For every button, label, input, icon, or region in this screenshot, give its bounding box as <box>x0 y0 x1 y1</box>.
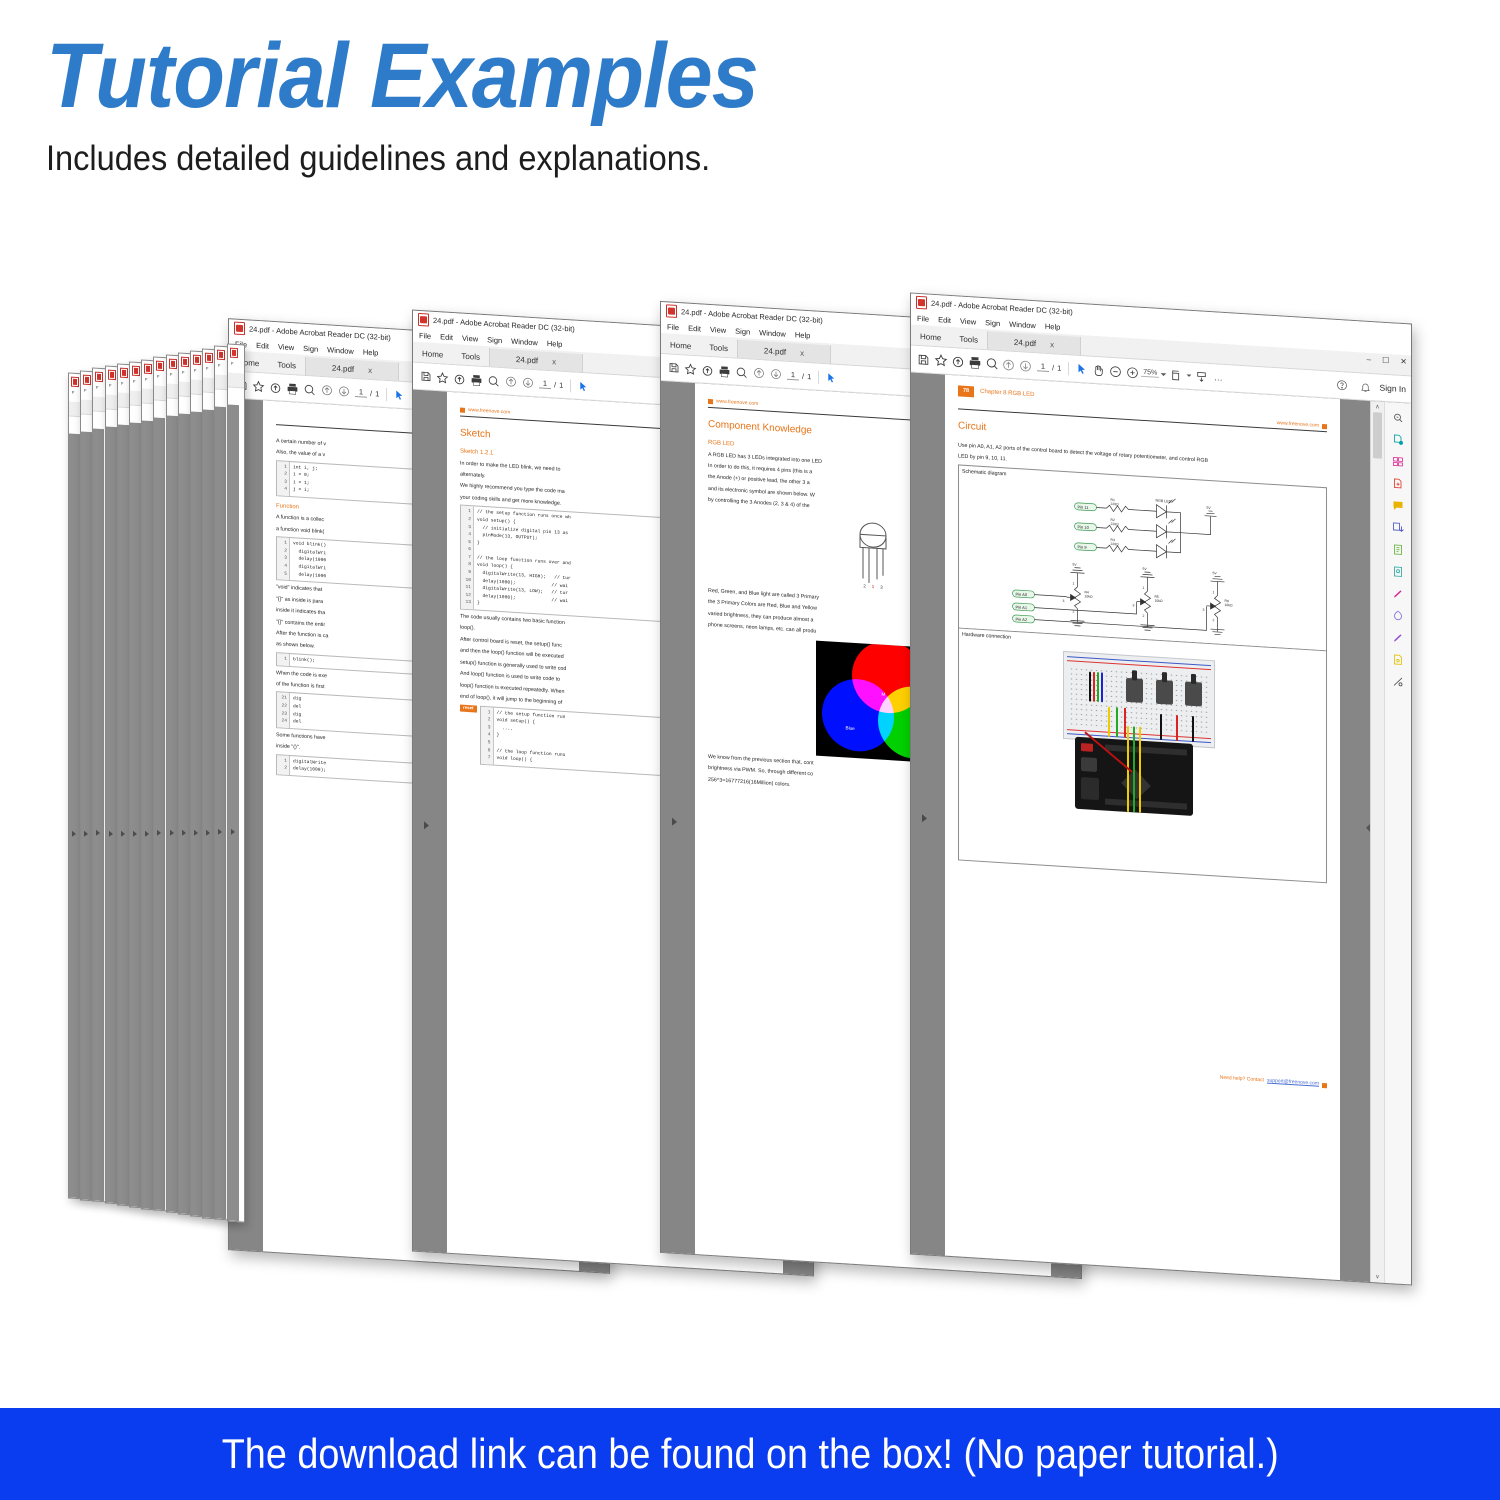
color-label-magenta: M <box>882 690 886 697</box>
code-line-numbers: 21222324 <box>277 693 290 728</box>
menu-help[interactable]: Help <box>363 347 378 357</box>
code-line-numbers: 1234567 <box>481 706 494 764</box>
window-controls[interactable]: – ☐ ✕ <box>1367 355 1407 367</box>
chevron-down-icon[interactable] <box>1159 365 1168 383</box>
tab-tools[interactable]: Tools <box>268 355 305 375</box>
page-separator: / <box>1052 363 1054 372</box>
left-gutter <box>118 425 129 1206</box>
acrobat-window-circuit[interactable]: 24.pdf - Adobe Acrobat Reader DC (32-bit… <box>910 292 1412 1285</box>
next-page-icon[interactable] <box>519 374 536 392</box>
page-current[interactable]: 1 <box>787 370 799 381</box>
document-area <box>228 405 244 1222</box>
pdf-app-icon <box>156 361 164 371</box>
svg-text:Pin A1: Pin A1 <box>1016 604 1028 610</box>
print-icon[interactable] <box>966 353 983 371</box>
next-page-icon[interactable] <box>335 382 352 400</box>
page-subtitle: Includes detailed guidelines and explana… <box>46 139 976 179</box>
expand-navigation-icon[interactable] <box>84 831 88 837</box>
chevron-down-icon[interactable] <box>1185 367 1193 384</box>
fit-page-icon[interactable] <box>1168 366 1185 384</box>
collapsed-window[interactable]: F <box>227 344 245 1223</box>
left-gutter <box>911 373 945 1256</box>
menu-window[interactable]: Window <box>327 345 354 356</box>
hardware-section: Hardware connection <box>959 627 1326 882</box>
left-gutter <box>228 405 239 1222</box>
left-gutter <box>154 418 165 1211</box>
save-icon[interactable] <box>915 350 932 368</box>
left-gutter <box>93 429 104 1202</box>
page-total: 1 <box>559 380 563 389</box>
support-email-link[interactable]: support@freenove.com <box>1267 1078 1319 1089</box>
menu-view[interactable]: View <box>462 333 478 343</box>
svg-text:5V: 5V <box>1073 562 1078 566</box>
tab-home[interactable]: Home <box>911 327 950 347</box>
code-source: dig del dig del <box>290 693 304 728</box>
figure-frame: Schematic diagram Pin 11 <box>958 464 1327 883</box>
expand-navigation-icon[interactable] <box>182 830 186 836</box>
menu-window[interactable]: Window <box>1009 319 1036 330</box>
svg-text:3: 3 <box>1203 607 1205 611</box>
upload-cloud-icon[interactable] <box>699 361 716 379</box>
footer-text: Need help? Contact <box>1220 1075 1264 1085</box>
page-header: Tutorial Examples Includes detailed guid… <box>46 28 1046 179</box>
page-indicator[interactable]: 1 / 1 <box>355 387 379 399</box>
orange-square-icon <box>460 408 465 413</box>
svg-text:2: 2 <box>1213 618 1215 622</box>
search-icon[interactable] <box>983 354 1000 372</box>
menu-edit[interactable]: Edit <box>440 332 453 342</box>
pdf-app-icon <box>144 363 152 373</box>
page-current[interactable]: 1 <box>1037 361 1049 372</box>
expand-navigation-icon[interactable] <box>157 830 161 836</box>
code-source: digitalWrite delay(1000); <box>290 756 329 778</box>
toolbar-divider <box>1068 362 1069 375</box>
measure-icon[interactable] <box>1391 673 1406 689</box>
combine-files-icon[interactable] <box>1391 519 1406 535</box>
page-footer: Need help? Contact support@freenove.com <box>958 1059 1327 1090</box>
svg-text:10kΩ: 10kΩ <box>1155 598 1163 603</box>
upload-cloud-icon[interactable] <box>949 352 966 370</box>
pin-label: 3 <box>880 585 882 592</box>
star-icon[interactable] <box>434 368 451 386</box>
star-icon[interactable] <box>682 360 699 378</box>
tab-strip <box>228 373 244 389</box>
menu-view[interactable]: View <box>278 342 294 352</box>
page-total: 1 <box>807 372 811 381</box>
left-gutter <box>191 411 202 1216</box>
orange-square-icon <box>708 399 713 404</box>
pdf-app-icon <box>193 354 201 364</box>
comment-icon[interactable] <box>1391 497 1406 513</box>
star-icon[interactable] <box>250 377 267 395</box>
create-pdf-icon[interactable] <box>1391 475 1406 491</box>
scroll-mode-icon[interactable] <box>1193 368 1210 386</box>
left-gutter <box>179 414 190 1215</box>
close-tab-icon[interactable]: x <box>800 348 804 357</box>
expand-navigation-icon[interactable] <box>96 831 100 837</box>
pdf-app-icon <box>230 348 238 358</box>
svg-text:1: 1 <box>1143 586 1145 590</box>
menu-window[interactable]: Window <box>759 328 786 339</box>
toolbar-divider <box>818 370 819 383</box>
zoom-out-icon[interactable] <box>1107 362 1124 380</box>
svg-text:5V: 5V <box>1207 506 1212 510</box>
code-source: // the setup function runs once wh void … <box>474 507 574 616</box>
svg-text:3: 3 <box>1063 599 1065 603</box>
page-title: Tutorial Examples <box>46 28 966 125</box>
expand-navigation-icon[interactable] <box>231 829 235 835</box>
print-icon[interactable] <box>284 379 301 397</box>
svg-text:220Ω: 220Ω <box>1111 542 1120 547</box>
tab-home[interactable]: Home <box>413 344 452 364</box>
certificates-icon[interactable] <box>1391 651 1406 667</box>
pdf-app-icon <box>120 368 128 378</box>
color-label-blue: Blue <box>846 724 855 732</box>
pdf-app-icon <box>418 313 429 327</box>
expand-navigation-icon[interactable] <box>170 830 174 836</box>
pdf-app-icon <box>217 350 225 360</box>
pdf-app-icon <box>95 372 103 382</box>
tab-document-label: 24.pdf <box>1014 337 1036 347</box>
left-gutter <box>69 433 80 1198</box>
svg-text:5V: 5V <box>1143 567 1148 571</box>
expand-navigation-icon[interactable] <box>72 831 76 837</box>
save-icon[interactable] <box>665 359 682 377</box>
left-gutter <box>130 422 141 1207</box>
expand-navigation-icon[interactable] <box>145 830 149 836</box>
menu-edit[interactable]: Edit <box>688 323 701 333</box>
search-icon[interactable] <box>301 380 318 398</box>
tab-document-label: 24.pdf <box>516 354 538 364</box>
save-icon[interactable] <box>417 367 434 385</box>
pdf-app-icon <box>83 374 91 384</box>
svg-text:Pin 11: Pin 11 <box>1078 504 1090 510</box>
pdf-app-icon <box>181 357 189 367</box>
reset-badge: reset <box>460 704 477 712</box>
svg-text:Pin A2: Pin A2 <box>1016 616 1028 622</box>
expand-navigation-icon[interactable] <box>424 821 429 829</box>
left-gutter <box>142 420 153 1209</box>
left-gutter <box>81 431 92 1200</box>
expand-navigation-icon[interactable] <box>121 830 125 836</box>
pdf-app-icon <box>132 365 140 375</box>
print-icon[interactable] <box>716 362 733 380</box>
select-cursor-icon[interactable] <box>575 377 592 395</box>
fill-sign-icon[interactable] <box>1391 585 1406 601</box>
expand-navigation-icon[interactable] <box>206 829 210 835</box>
page-indicator[interactable]: 1 / 1 <box>539 378 563 390</box>
pdf-app-icon <box>666 304 677 318</box>
page-separator: / <box>554 380 556 389</box>
scroll-down-arrow[interactable]: ∨ <box>1375 1273 1379 1280</box>
menu-edit[interactable]: Edit <box>256 340 269 350</box>
page-separator: / <box>370 388 372 397</box>
menu-edit[interactable]: Edit <box>938 315 951 325</box>
tab-tools[interactable]: Tools <box>452 346 489 366</box>
minimize-icon[interactable]: – <box>1367 355 1371 364</box>
previous-page-icon[interactable] <box>318 381 335 399</box>
expand-navigation-icon[interactable] <box>109 830 113 836</box>
page-total: 1 <box>375 389 379 398</box>
expand-navigation-icon[interactable] <box>194 830 198 836</box>
page-current[interactable]: 1 <box>355 387 367 398</box>
banner-text: The download link can be found on the bo… <box>222 1430 1279 1478</box>
page-separator: / <box>802 371 804 380</box>
menu-sign[interactable]: Sign <box>985 318 1000 328</box>
protect-icon[interactable] <box>1391 563 1406 579</box>
help-circle-icon[interactable] <box>1334 376 1351 394</box>
organize-pages-icon[interactable] <box>1391 453 1406 469</box>
pdf-app-icon <box>71 376 79 386</box>
more-tools-icon[interactable]: … <box>1210 369 1227 387</box>
left-gutter <box>215 407 226 1220</box>
chapter-label: Chapter 8 RGB LED <box>980 387 1034 400</box>
hand-icon[interactable] <box>1090 361 1107 379</box>
schematic-diagram: Pin 11 R1 220Ω <box>959 477 1326 650</box>
potentiometer <box>1126 678 1143 703</box>
next-page-icon[interactable] <box>1017 357 1034 375</box>
stamp-icon[interactable] <box>1391 607 1406 623</box>
select-cursor-icon[interactable] <box>823 369 840 387</box>
svg-text:1: 1 <box>1073 581 1075 585</box>
previous-page-icon[interactable] <box>1000 356 1017 374</box>
svg-text:1: 1 <box>1213 590 1215 594</box>
tools-rail[interactable] <box>1384 402 1411 1285</box>
page-current[interactable]: 1 <box>539 378 551 389</box>
pdf-page: 78 Chapter 8 RGB LED www.freenove.com Ci… <box>945 375 1340 1280</box>
menu-file[interactable]: File <box>419 330 431 340</box>
menu-help[interactable]: Help <box>1045 321 1060 331</box>
tab-tools[interactable]: Tools <box>700 337 737 357</box>
svg-text:220Ω: 220Ω <box>1111 502 1120 507</box>
svg-text:3: 3 <box>1133 603 1135 607</box>
code-line-numbers: 12 <box>277 755 290 775</box>
code-line-numbers: 12345678910111213 <box>461 506 474 609</box>
right-gutter <box>1340 399 1370 1282</box>
search-document-icon[interactable] <box>1391 409 1406 425</box>
tab-document-label: 24.pdf <box>332 363 354 373</box>
toolbar-divider <box>570 379 571 392</box>
pdf-app-icon <box>234 322 245 336</box>
menu-sign[interactable]: Sign <box>303 343 318 353</box>
bell-icon[interactable] <box>1357 378 1374 396</box>
sign-in-button[interactable]: Sign In <box>1380 383 1406 395</box>
menu-view[interactable]: View <box>960 316 976 326</box>
upload-cloud-icon[interactable] <box>267 378 284 396</box>
code-line-numbers: 1234 <box>277 461 290 496</box>
menu-file[interactable]: File <box>667 322 679 332</box>
toolbar-right[interactable]: Sign In <box>1334 372 1406 402</box>
next-page-icon[interactable] <box>767 365 784 383</box>
potentiometer <box>1156 679 1173 704</box>
download-banner: The download link can be found on the bo… <box>0 1408 1500 1500</box>
pdf-app-icon <box>916 296 927 310</box>
compress-pdf-icon[interactable] <box>1391 541 1406 557</box>
expand-navigation-icon[interactable] <box>133 830 137 836</box>
collapse-pane-icon[interactable] <box>1366 824 1370 832</box>
expand-navigation-icon[interactable] <box>672 817 677 825</box>
left-gutter <box>661 381 695 1254</box>
search-icon[interactable] <box>733 363 750 381</box>
window-stack-stage: FFFFFFFFFFFFFF 24.pdf - Adobe Acrobat Re… <box>0 300 1500 1300</box>
svg-text:5V: 5V <box>1213 571 1218 575</box>
edit-pdf-icon[interactable] <box>1391 629 1406 645</box>
tab-tools[interactable]: Tools <box>950 329 987 349</box>
code-source: blink(); <box>290 654 318 667</box>
control-board <box>1075 736 1193 815</box>
svg-text:10kΩ: 10kΩ <box>1085 594 1093 599</box>
pdf-app-icon <box>169 359 177 369</box>
menu-window[interactable]: Window <box>511 336 538 347</box>
left-gutter <box>167 416 178 1213</box>
menu-help[interactable]: Help <box>795 330 810 340</box>
expand-navigation-icon[interactable] <box>922 814 927 822</box>
tab-document-label: 24.pdf <box>764 346 786 356</box>
page-indicator[interactable]: 1 / 1 <box>787 370 811 382</box>
menu-file[interactable]: File <box>917 313 929 323</box>
code-line-numbers: 1 <box>277 653 290 665</box>
menu-view[interactable]: View <box>710 325 726 335</box>
expand-navigation-icon[interactable] <box>218 829 222 835</box>
previous-page-icon[interactable] <box>750 364 767 382</box>
left-gutter <box>413 390 447 1253</box>
page-indicator[interactable]: 1 / 1 <box>1037 361 1061 373</box>
code-source: // the setup function run void setup() {… <box>494 707 569 769</box>
menu-sign[interactable]: Sign <box>735 326 750 336</box>
left-gutter <box>203 409 214 1218</box>
upload-cloud-icon[interactable] <box>451 369 468 387</box>
code-source: int i, j; i = 0; i = 1; j = i; <box>290 462 321 498</box>
close-tab-icon[interactable]: x <box>1050 340 1054 349</box>
orange-square-icon <box>1322 424 1327 429</box>
document-area: 78 Chapter 8 RGB LED www.freenove.com Ci… <box>911 373 1411 1285</box>
export-pdf-icon[interactable] <box>1391 431 1406 447</box>
close-tab-icon[interactable]: x <box>552 357 556 366</box>
svg-text:2: 2 <box>1143 614 1145 618</box>
vertical-scrollbar[interactable]: ∧ ∨ <box>1370 401 1384 1283</box>
code-line-numbers: 12345 <box>277 537 290 580</box>
menu-sign[interactable]: Sign <box>487 335 502 345</box>
close-window-icon[interactable]: ✕ <box>1400 357 1407 366</box>
search-icon[interactable] <box>485 372 502 390</box>
titlebar <box>228 345 244 362</box>
hardware-photo <box>959 640 1326 882</box>
zoom-in-icon[interactable] <box>1124 363 1141 381</box>
svg-text:RGB LED: RGB LED <box>1156 498 1172 503</box>
page-number-badge: 78 <box>958 385 974 397</box>
svg-text:Pin A0: Pin A0 <box>1016 591 1028 597</box>
pdf-app-icon <box>108 370 116 380</box>
print-icon[interactable] <box>468 371 485 389</box>
scroll-thumb[interactable] <box>1373 412 1382 459</box>
tab-home[interactable]: Home <box>661 335 700 355</box>
star-icon[interactable] <box>932 351 949 369</box>
toolbar-divider <box>386 387 387 400</box>
select-cursor-icon[interactable] <box>1073 360 1090 378</box>
select-cursor-icon[interactable] <box>391 386 408 404</box>
svg-text:220Ω: 220Ω <box>1111 522 1120 527</box>
code-source: void blink() digitalWri delay(1000 digit… <box>290 538 329 582</box>
menu-help[interactable]: Help <box>547 338 562 348</box>
pdf-page-content: 78 Chapter 8 RGB LED www.freenove.com Ci… <box>945 375 1340 1280</box>
page-total: 1 <box>1057 363 1061 372</box>
left-gutter <box>106 427 117 1204</box>
close-tab-icon[interactable]: x <box>368 365 372 374</box>
previous-page-icon[interactable] <box>502 373 519 391</box>
svg-text:Pin 9: Pin 9 <box>1078 544 1088 550</box>
scroll-up-arrow[interactable]: ∧ <box>1373 403 1382 411</box>
pin-label: 1 <box>872 584 874 591</box>
zoom-level[interactable]: 75% <box>1141 369 1159 378</box>
maximize-icon[interactable]: ☐ <box>1382 356 1389 365</box>
pdf-app-icon <box>205 352 213 362</box>
svg-text:10kΩ: 10kΩ <box>1225 603 1233 608</box>
potentiometer <box>1185 681 1202 706</box>
orange-square-icon <box>1322 1083 1327 1088</box>
svg-text:Pin 10: Pin 10 <box>1078 524 1090 530</box>
pin-label: 2 <box>863 584 865 591</box>
